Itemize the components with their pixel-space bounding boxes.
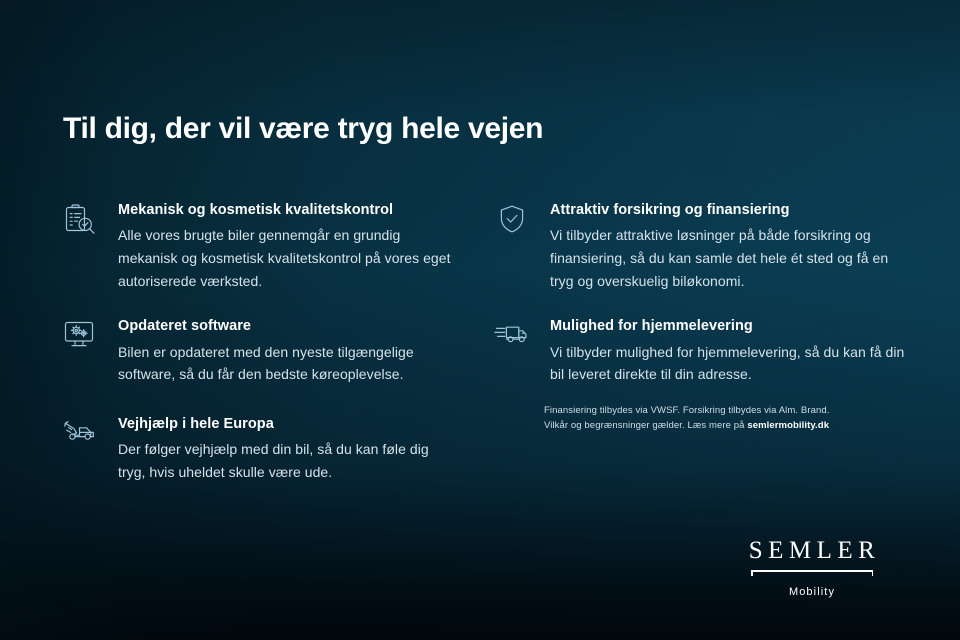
feature-title: Opdateret software [118,316,460,336]
slide-root: Til dig, der vil være tryg hele vejen Me… [0,0,960,640]
feature-body: Vi tilbyder attraktive løsninger på både… [550,224,912,292]
delivery-truck-icon [492,320,532,354]
semler-mobility-logo: SEMLER Mobility [722,538,902,598]
feature-column-right: Attraktiv forsikring og finansiering Vi … [492,200,912,408]
feature-item-insurance-financing: Attraktiv forsikring og finansiering Vi … [492,200,912,292]
feature-title: Attraktiv forsikring og finansiering [550,200,912,220]
logo-rule-tick-left [751,570,753,576]
shield-check-icon [492,204,532,238]
tow-truck-icon [60,418,100,452]
fineprint-line-2: Vilkår og begrænsninger gælder. Læs mere… [544,419,892,434]
feature-item-updated-software: Opdateret software Bilen er opdateret me… [60,316,460,386]
logo-wordmark: SEMLER [722,538,902,563]
feature-body: Alle vores brugte biler gennemgår en gru… [118,224,460,292]
slide-content: Til dig, der vil være tryg hele vejen Me… [0,0,960,640]
feature-item-quality-control: Mekanisk og kosmetisk kvalitetskontrol A… [60,200,460,292]
feature-title: Mulighed for hjemmelevering [550,316,912,336]
fineprint-line-2-prefix: Vilkår og begrænsninger gælder. Læs mere… [544,420,747,431]
clipboard-magnifier-check-icon [60,204,100,238]
feature-title: Vejhjælp i hele Europa [118,414,460,434]
feature-item-home-delivery: Mulighed for hjemmelevering Vi tilbyder … [492,316,912,386]
semlermobility-domain-link[interactable]: semlermobility.dk [747,420,829,431]
logo-divider-rule [751,570,873,580]
feature-column-left: Mekanisk og kosmetisk kvalitetskontrol A… [60,200,460,506]
feature-item-roadside-assistance: Vejhjælp i hele Europa Der følger vejhjæ… [60,414,460,484]
feature-title: Mekanisk og kosmetisk kvalitetskontrol [118,200,460,220]
legal-fineprint: Finansiering tilbydes via VWSF. Forsikri… [492,404,892,433]
logo-rule-tick-right [872,570,874,576]
logo-subtitle: Mobility [722,586,902,598]
monitor-gears-icon [60,320,100,354]
feature-body: Bilen er opdateret med den nyeste tilgæn… [118,341,460,386]
page-title: Til dig, der vil være tryg hele vejen [63,112,543,146]
feature-body: Vi tilbyder mulighed for hjemmelevering,… [550,341,912,386]
feature-body: Der følger vejhjælp med din bil, så du k… [118,438,460,483]
fineprint-line-1: Finansiering tilbydes via VWSF. Forsikri… [544,404,892,419]
